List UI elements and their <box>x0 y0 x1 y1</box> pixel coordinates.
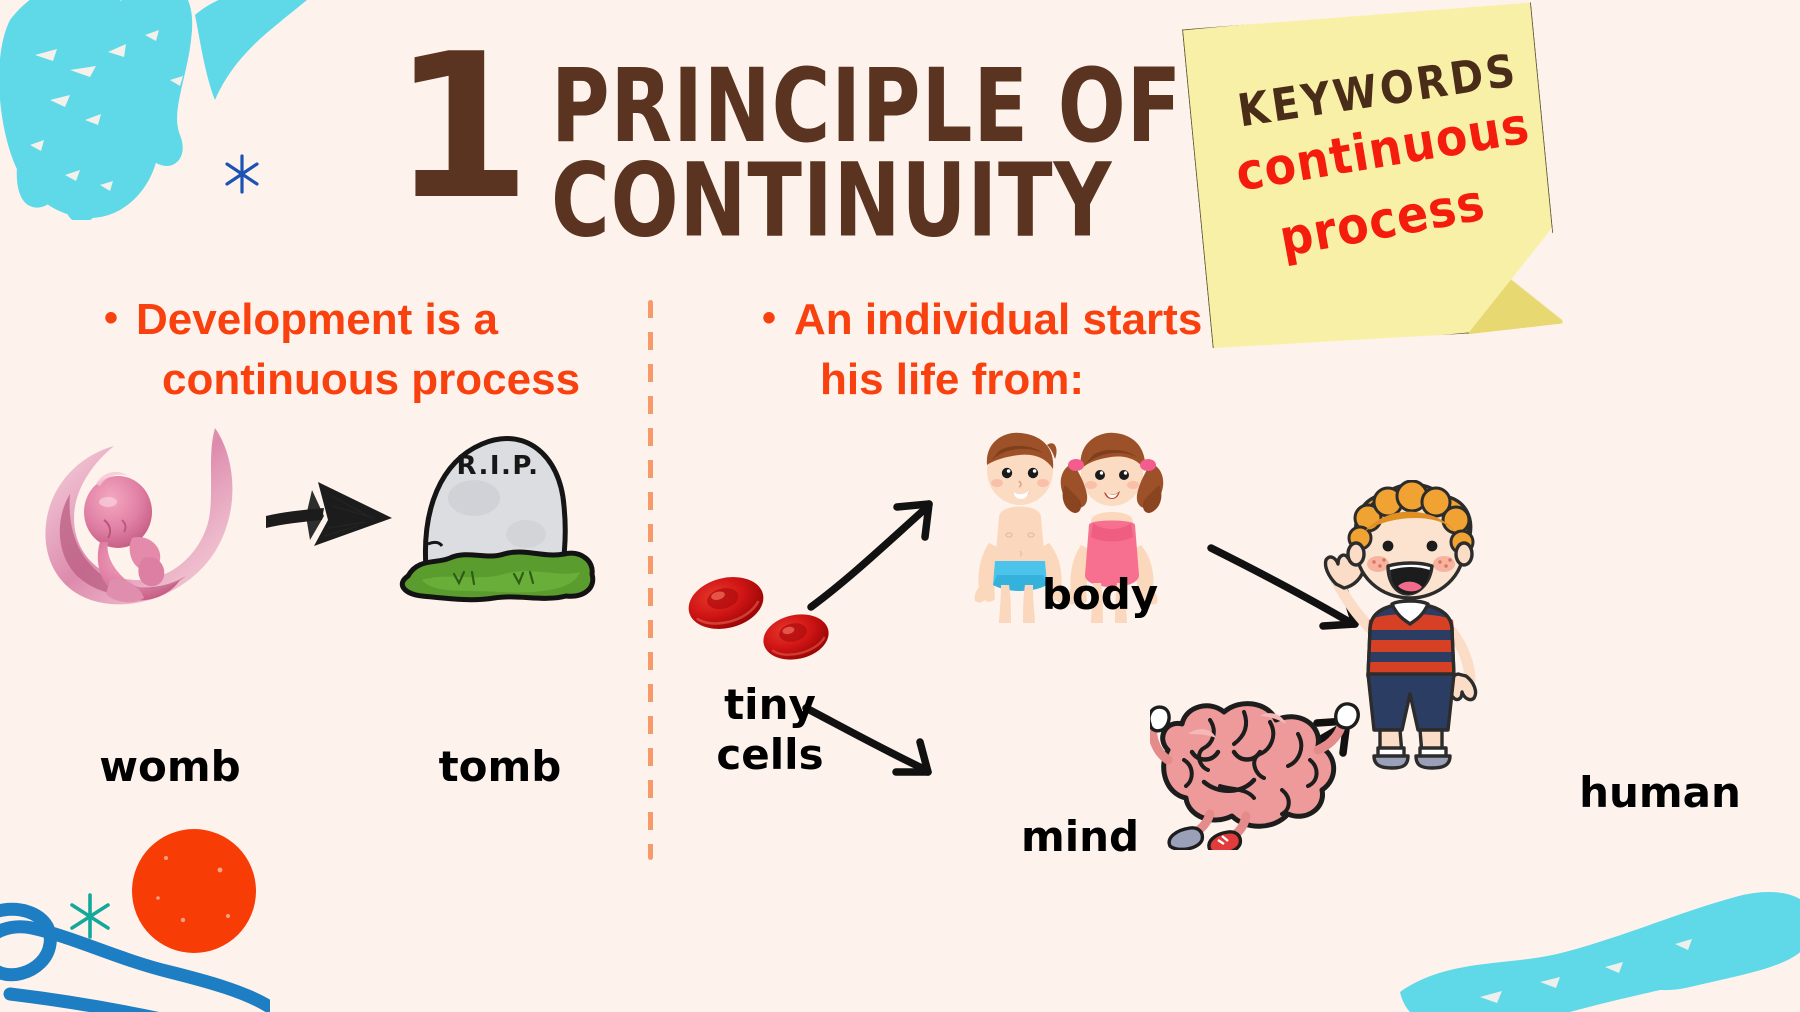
slide-canvas: 1 PRINCIPLE OF CONTINUITY KEYWORDS conti… <box>0 0 1800 1012</box>
star-sparkle-icon <box>66 890 114 942</box>
label-tomb: tomb <box>400 742 600 791</box>
label-tiny-cells: tiny cells <box>690 680 850 779</box>
tombstone-illustration: R.I.P. <box>378 418 603 608</box>
title-line-2: CONTINUITY <box>551 155 1182 249</box>
brush-stroke-icon <box>0 0 340 220</box>
brush-stroke-icon <box>1390 872 1800 1012</box>
scribble-icon <box>0 882 270 1012</box>
bullet-marker-icon: • <box>104 290 118 350</box>
arrow-right-icon <box>262 472 397 562</box>
bullet-right-line-1: An individual starts <box>794 290 1282 350</box>
label-tiny-cells-line-2: cells <box>690 730 850 780</box>
label-body: body <box>1010 570 1190 619</box>
bullet-right-line-2: his life from: <box>762 350 1282 410</box>
bullet-left: • Development is a continuous process <box>104 290 624 410</box>
tombstone-text: R.I.P. <box>456 451 539 481</box>
bullet-left-line-2: continuous process <box>104 350 624 410</box>
bullet-right: • An individual starts his life from: <box>762 290 1282 410</box>
title-number: 1 <box>392 42 523 214</box>
slide-title: 1 PRINCIPLE OF CONTINUITY <box>392 42 1230 218</box>
arrow-up-right-icon <box>805 495 940 615</box>
womb-illustration <box>40 420 250 620</box>
label-tiny-cells-line-1: tiny <box>690 680 850 730</box>
title-line-1: PRINCIPLE OF <box>551 61 1182 155</box>
orange-dot-icon <box>128 828 260 954</box>
label-mind: mind <box>990 812 1170 861</box>
bullet-marker-icon: • <box>762 290 776 350</box>
bullet-left-line-1: Development is a <box>136 290 624 350</box>
human-boy-illustration <box>1320 480 1500 770</box>
column-divider <box>648 300 653 860</box>
star-sparkle-icon <box>222 152 262 196</box>
label-womb: womb <box>60 742 280 791</box>
label-human: human <box>1560 768 1760 817</box>
title-heading: PRINCIPLE OF CONTINUITY <box>551 42 1182 250</box>
